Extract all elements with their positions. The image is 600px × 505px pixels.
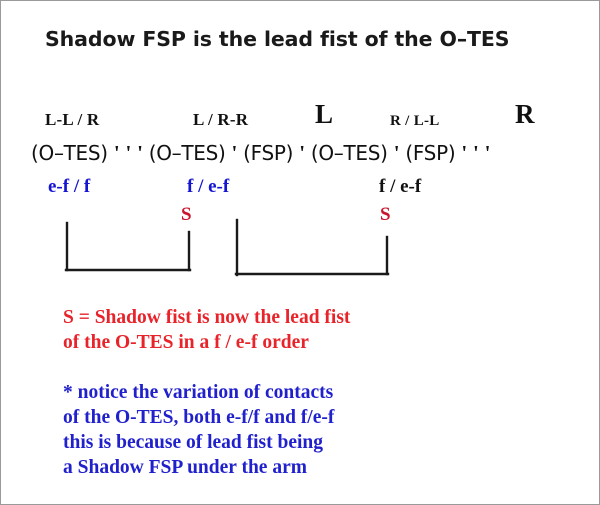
hand-label-2: L / R-R (193, 111, 248, 128)
seq-tick-5: ' (299, 141, 305, 165)
slide-canvas: Shadow FSP is the lead fist of the O–TES… (0, 0, 600, 505)
seq-token-otes-2: (O–TES) (149, 141, 226, 165)
bracket-1 (66, 223, 190, 270)
seq-tick-7: ' (461, 141, 467, 165)
seq-tick-3: ' (137, 141, 143, 165)
contact-label-3: f / e-f (379, 177, 421, 196)
legend-red-line-1: S = Shadow fist is now the lead fist (63, 306, 350, 331)
legend-red-line-2: of the O-TES in a f / e-f order (63, 331, 350, 356)
seq-tick-1: ' (114, 141, 120, 165)
hand-label-1: L-L / R (45, 111, 99, 128)
notation-block: L-L / R L / R-R L R / L-L R (O–TES) ' ' … (1, 109, 600, 209)
seq-token-otes-3: (O–TES) (311, 141, 388, 165)
note-blue-line-3: this is because of lead fist being (63, 431, 334, 456)
notation-sequence: (O–TES) ' ' ' (O–TES) ' (FSP) ' (O–TES) … (31, 141, 490, 166)
hand-label-4: R / L-L (390, 114, 440, 129)
contact-label-1: e-f / f (48, 177, 90, 196)
hand-label-5: R (515, 101, 535, 128)
seq-token-fsp-1: (FSP) (243, 141, 293, 165)
seq-tick-8: ' (473, 141, 479, 165)
seq-token-otes-1: (O–TES) (31, 141, 108, 165)
note-contact-variation: * notice the variation of contacts of th… (63, 381, 334, 481)
seq-token-fsp-2: (FSP) (405, 141, 455, 165)
shadow-marker-1: S (181, 205, 192, 224)
note-blue-line-1: * notice the variation of contacts (63, 381, 334, 406)
legend-shadow-definition: S = Shadow fist is now the lead fist of … (63, 306, 350, 356)
seq-tick-4: ' (232, 141, 238, 165)
shadow-marker-2: S (380, 205, 391, 224)
contact-label-2: f / e-f (187, 177, 229, 196)
hand-label-3: L (315, 101, 333, 128)
seq-tick-9: ' (485, 141, 491, 165)
note-blue-line-4: a Shadow FSP under the arm (63, 456, 334, 481)
bracket-2 (236, 220, 388, 275)
page-title: Shadow FSP is the lead fist of the O–TES (45, 27, 509, 51)
note-blue-line-2: of the O-TES, both e-f/f and f/e-f (63, 406, 334, 431)
seq-tick-2: ' (125, 141, 131, 165)
seq-tick-6: ' (394, 141, 400, 165)
